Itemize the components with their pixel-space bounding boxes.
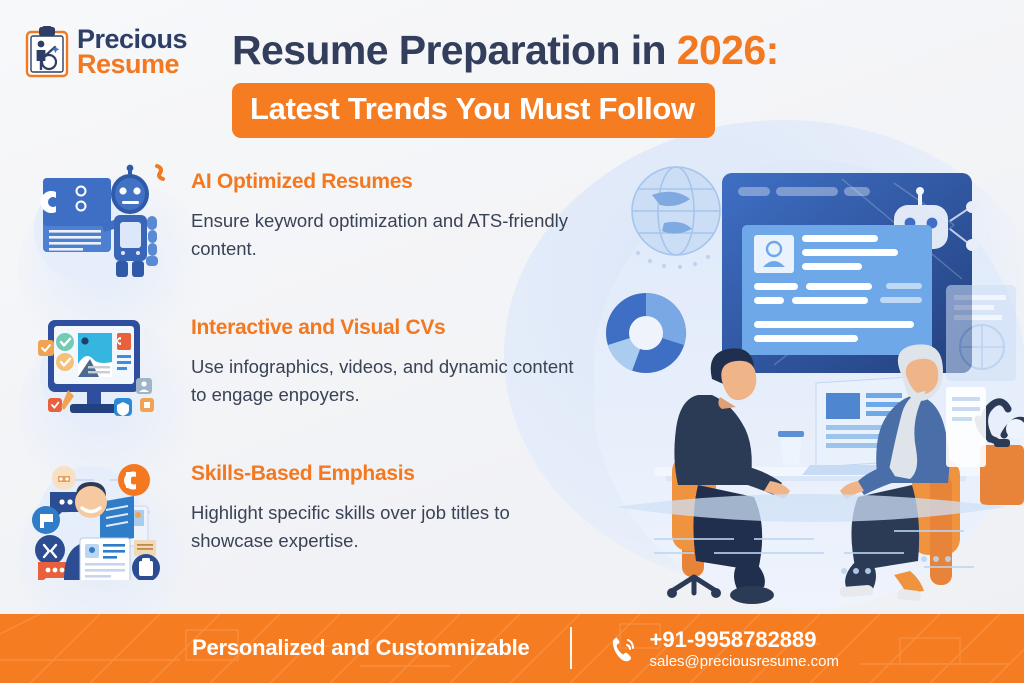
feature-text: Skills-Based Emphasis Highlight specific… [191, 450, 591, 555]
person-skills-icon [24, 450, 179, 580]
monitor-media-icon [24, 304, 179, 434]
feature-title: Interactive and Visual CVs [191, 316, 591, 340]
subtitle-badge: Latest Trends You Must Follow [232, 83, 715, 138]
footer-bar: Personalized and Customnizable +91-99587… [0, 614, 1024, 683]
briefcase [980, 445, 1024, 505]
title-block: Resume Preparation in 2026: Latest Trend… [232, 26, 779, 138]
feature-title: AI Optimized Resumes [191, 170, 591, 194]
list-item: Interactive and Visual CVs Use infograph… [24, 304, 599, 434]
contact-lines: +91-9958782889 sales@preciousresume.com [650, 627, 839, 671]
feature-description: Highlight specific skills over job title… [191, 499, 591, 555]
illustration-svg [594, 135, 1024, 610]
feature-title: Skills-Based Emphasis [191, 462, 591, 486]
contact-phone[interactable]: +91-9958782889 [650, 627, 839, 653]
header: Precious Resume Resume Preparation in 20… [0, 0, 1024, 145]
clipboard-person-icon [24, 26, 70, 78]
phone-ringing-icon [610, 635, 637, 662]
infographic-poster: Precious Resume Resume Preparation in 20… [0, 0, 1024, 683]
page-title-year: 2026: [677, 27, 779, 73]
list-item: AI Optimized Resumes Ensure keyword opti… [24, 158, 599, 288]
globe-icon [632, 167, 720, 255]
footer-content: Personalized and Customnizable +91-99587… [0, 627, 1024, 671]
feature-text: Interactive and Visual CVs Use infograph… [191, 304, 591, 409]
side-panels [946, 285, 1016, 381]
footer-tagline: Personalized and Customnizable [192, 635, 530, 661]
feature-list: AI Optimized Resumes Ensure keyword opti… [24, 158, 599, 596]
office-interview-illustration [594, 135, 1024, 610]
brand-name-bottom: Resume [77, 52, 187, 77]
contact-block[interactable]: +91-9958782889 sales@preciousresume.com [610, 627, 839, 671]
feature-text: AI Optimized Resumes Ensure keyword opti… [191, 158, 591, 263]
brand-wordmark: Precious Resume [77, 27, 187, 77]
page-title: Resume Preparation in 2026: [232, 26, 779, 74]
feature-description: Use infographics, videos, and dynamic co… [191, 353, 591, 409]
robot-resume-icon [24, 158, 179, 288]
list-item: Skills-Based Emphasis Highlight specific… [24, 450, 599, 580]
paper-stack [946, 387, 986, 467]
screen-tabs [738, 187, 870, 196]
donut-chart-icon [606, 293, 686, 373]
page-title-main: Resume Preparation in [232, 27, 677, 73]
footer-divider [570, 627, 572, 669]
brand-logo[interactable]: Precious Resume [24, 26, 187, 78]
contact-email[interactable]: sales@preciousresume.com [650, 653, 839, 671]
feature-description: Ensure keyword optimization and ATS-frie… [191, 207, 591, 263]
